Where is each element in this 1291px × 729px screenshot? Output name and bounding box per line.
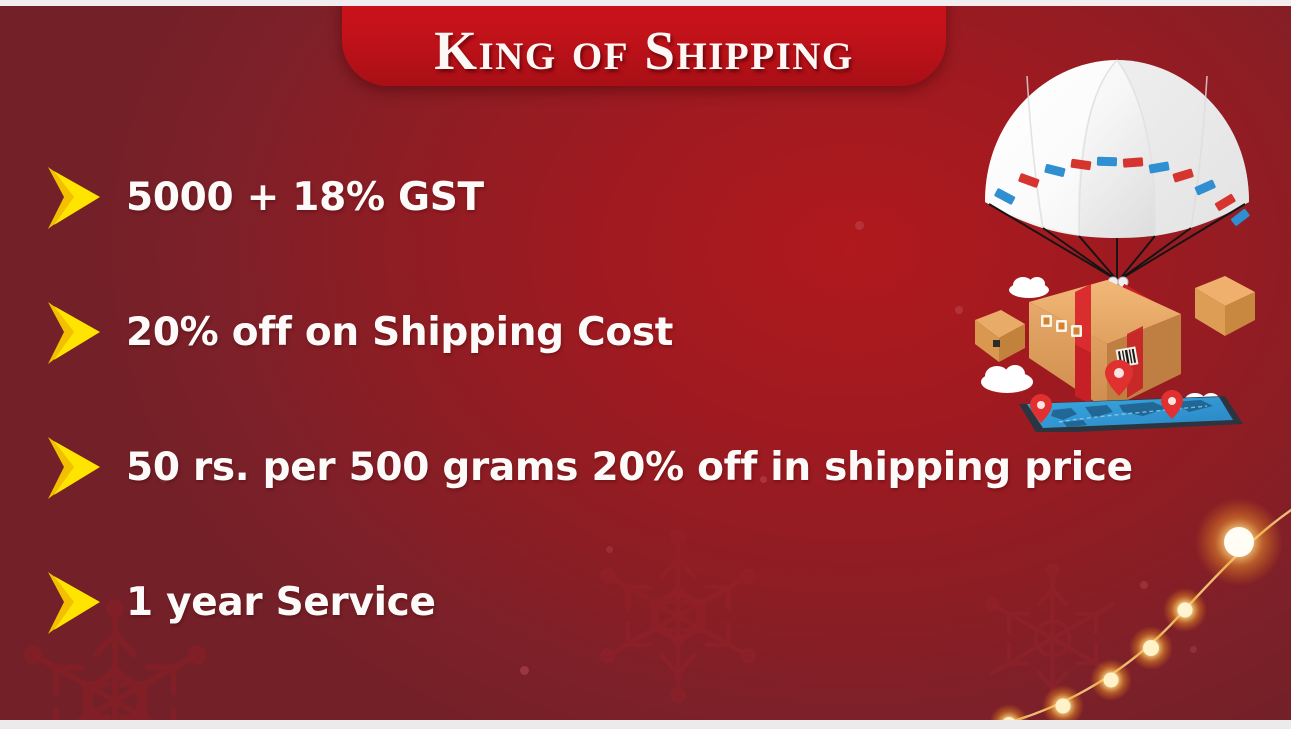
feature-label: 1 year Service (126, 583, 436, 624)
feature-label: 5000 + 18% GST (126, 178, 484, 219)
list-item: 1 year Service (44, 557, 1224, 649)
double-chevron-icon (44, 431, 118, 505)
decorative-dot (520, 666, 529, 675)
feature-label: 20% off on Shipping Cost (126, 313, 673, 354)
page-title: King of Shipping (434, 23, 854, 78)
feature-label: 50 rs. per 500 grams 20% off in shipping… (126, 448, 1133, 489)
double-chevron-icon (44, 296, 118, 370)
list-item: 20% off on Shipping Cost (44, 287, 1224, 379)
list-item: 50 rs. per 500 grams 20% off in shipping… (44, 422, 1224, 514)
double-chevron-icon (44, 161, 118, 235)
feature-list: 5000 + 18% GST 20% off on Shipping Cost … (44, 152, 1224, 649)
double-chevron-icon (44, 566, 118, 640)
banner-title-pill: King of Shipping (342, 0, 946, 86)
list-item: 5000 + 18% GST (44, 152, 1224, 244)
promo-banner: King of Shipping (0, 0, 1291, 729)
